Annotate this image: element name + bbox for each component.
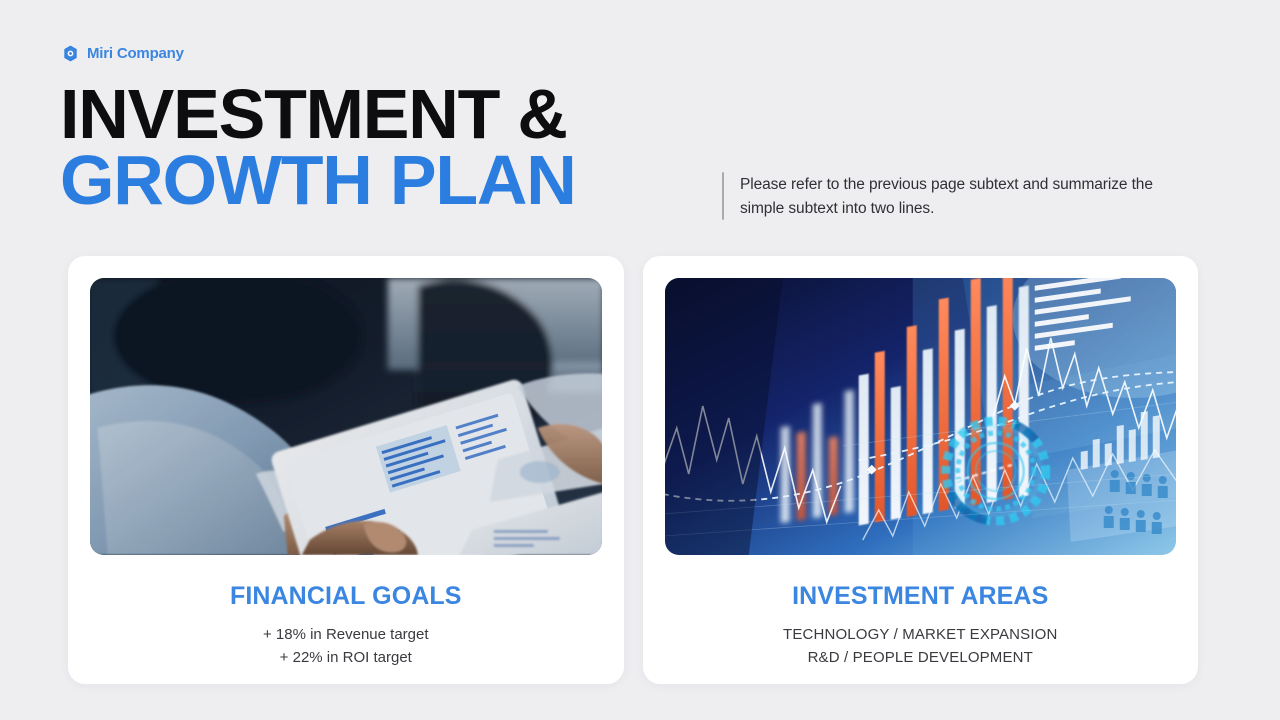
subtitle-text: Please refer to the previous page subtex… — [740, 172, 1200, 220]
card-financial-goals[interactable]: FINANCIAL GOALS + 18% in Revenue target … — [68, 256, 624, 684]
card-body-line: + 18% in Revenue target — [263, 623, 429, 646]
card-heading-financial-goals: FINANCIAL GOALS — [230, 584, 462, 609]
page-title: INVESTMENT & GROWTH PLAN — [60, 82, 576, 214]
card-heading-investment-areas: INVESTMENT AREAS — [792, 584, 1048, 609]
subtitle-accent-bar — [722, 172, 724, 220]
card-body-financial-goals: + 18% in Revenue target + 22% in ROI tar… — [263, 623, 429, 670]
business-meeting-tablet-photo — [90, 278, 602, 555]
hexagon-gear-icon — [62, 45, 79, 62]
page-title-line-2: GROWTH PLAN — [60, 148, 576, 214]
card-group: FINANCIAL GOALS + 18% in Revenue target … — [68, 256, 1198, 684]
page-title-line-1: INVESTMENT & — [60, 82, 576, 148]
data-analytics-dashboard-photo — [665, 278, 1177, 555]
subtitle: Please refer to the previous page subtex… — [722, 172, 1200, 220]
card-investment-areas[interactable]: INVESTMENT AREAS TECHNOLOGY / MARKET EXP… — [643, 256, 1199, 684]
brand-logo: Miri Company — [62, 45, 184, 62]
card-body-line: TECHNOLOGY / MARKET EXPANSION — [783, 623, 1057, 646]
brand-name: Miri Company — [87, 46, 184, 61]
card-body-line: + 22% in ROI target — [263, 646, 429, 669]
card-body-investment-areas: TECHNOLOGY / MARKET EXPANSION R&D / PEOP… — [783, 623, 1057, 670]
card-body-line: R&D / PEOPLE DEVELOPMENT — [783, 646, 1057, 669]
slide-root: Miri Company INVESTMENT & GROWTH PLAN Pl… — [0, 0, 1280, 720]
